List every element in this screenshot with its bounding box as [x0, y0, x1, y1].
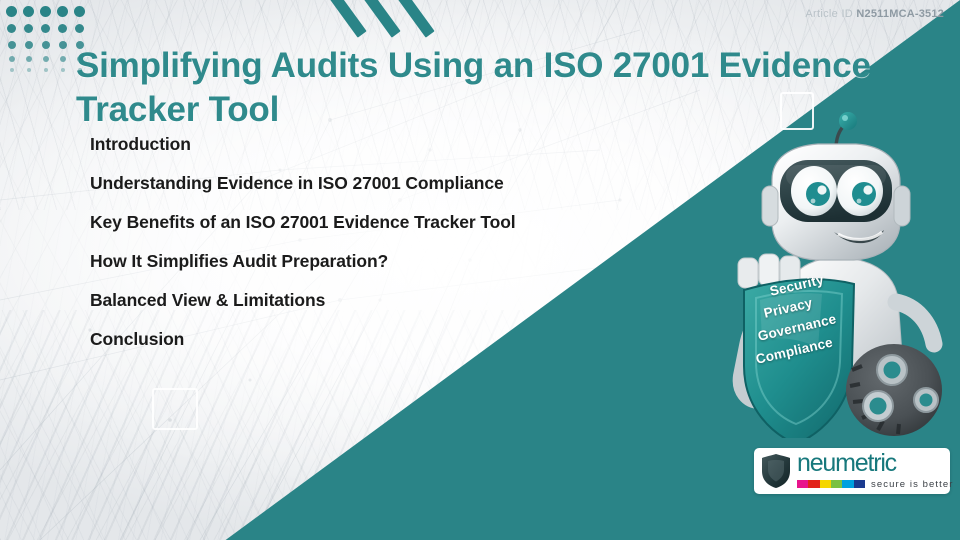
logo-color-bar	[797, 480, 865, 488]
robot-antenna-bulb	[839, 112, 857, 130]
article-id: Article ID N2511MCA-3512	[805, 8, 944, 20]
agenda-item-key-benefits[interactable]: Key Benefits of an ISO 27001 Evidence Tr…	[90, 214, 710, 232]
article-id-label: Article ID	[805, 8, 853, 20]
logo-tagline: secure is better	[871, 479, 954, 490]
robot-eye-right	[837, 166, 883, 216]
robot-ear-left	[762, 186, 778, 226]
stripes-bottom-decoration	[118, 466, 268, 540]
agenda-item-balanced-view[interactable]: Balanced View & Limitations	[90, 292, 710, 310]
stripes-top-decoration	[326, 0, 436, 40]
robot-right-arm	[896, 302, 934, 344]
decorative-square-bottom-left	[152, 388, 198, 430]
agenda-item-introduction[interactable]: Introduction	[90, 136, 710, 154]
agenda-list: Introduction Understanding Evidence in I…	[90, 136, 710, 370]
neumetric-logo[interactable]: neumetric secure is better	[754, 448, 950, 494]
robot-eye-left	[791, 166, 837, 216]
logo-word-end: ric	[873, 449, 896, 477]
robot-wheel	[846, 344, 942, 436]
logo-wordmark: neumetric	[797, 452, 954, 476]
robot-ear-right	[894, 186, 910, 226]
article-id-value: N2511MCA-3512	[856, 8, 944, 20]
robot-shield	[744, 278, 856, 438]
logo-word-main: neume	[797, 449, 867, 477]
slide-root: Article ID N2511MCA-3512 Simplifying Aud…	[0, 0, 960, 540]
agenda-item-audit-preparation[interactable]: How It Simplifies Audit Preparation?	[90, 253, 710, 271]
robot-mascot	[726, 108, 960, 438]
logo-shield-icon	[761, 453, 791, 489]
agenda-item-conclusion[interactable]: Conclusion	[90, 331, 710, 349]
agenda-item-understanding-evidence[interactable]: Understanding Evidence in ISO 27001 Comp…	[90, 175, 710, 193]
